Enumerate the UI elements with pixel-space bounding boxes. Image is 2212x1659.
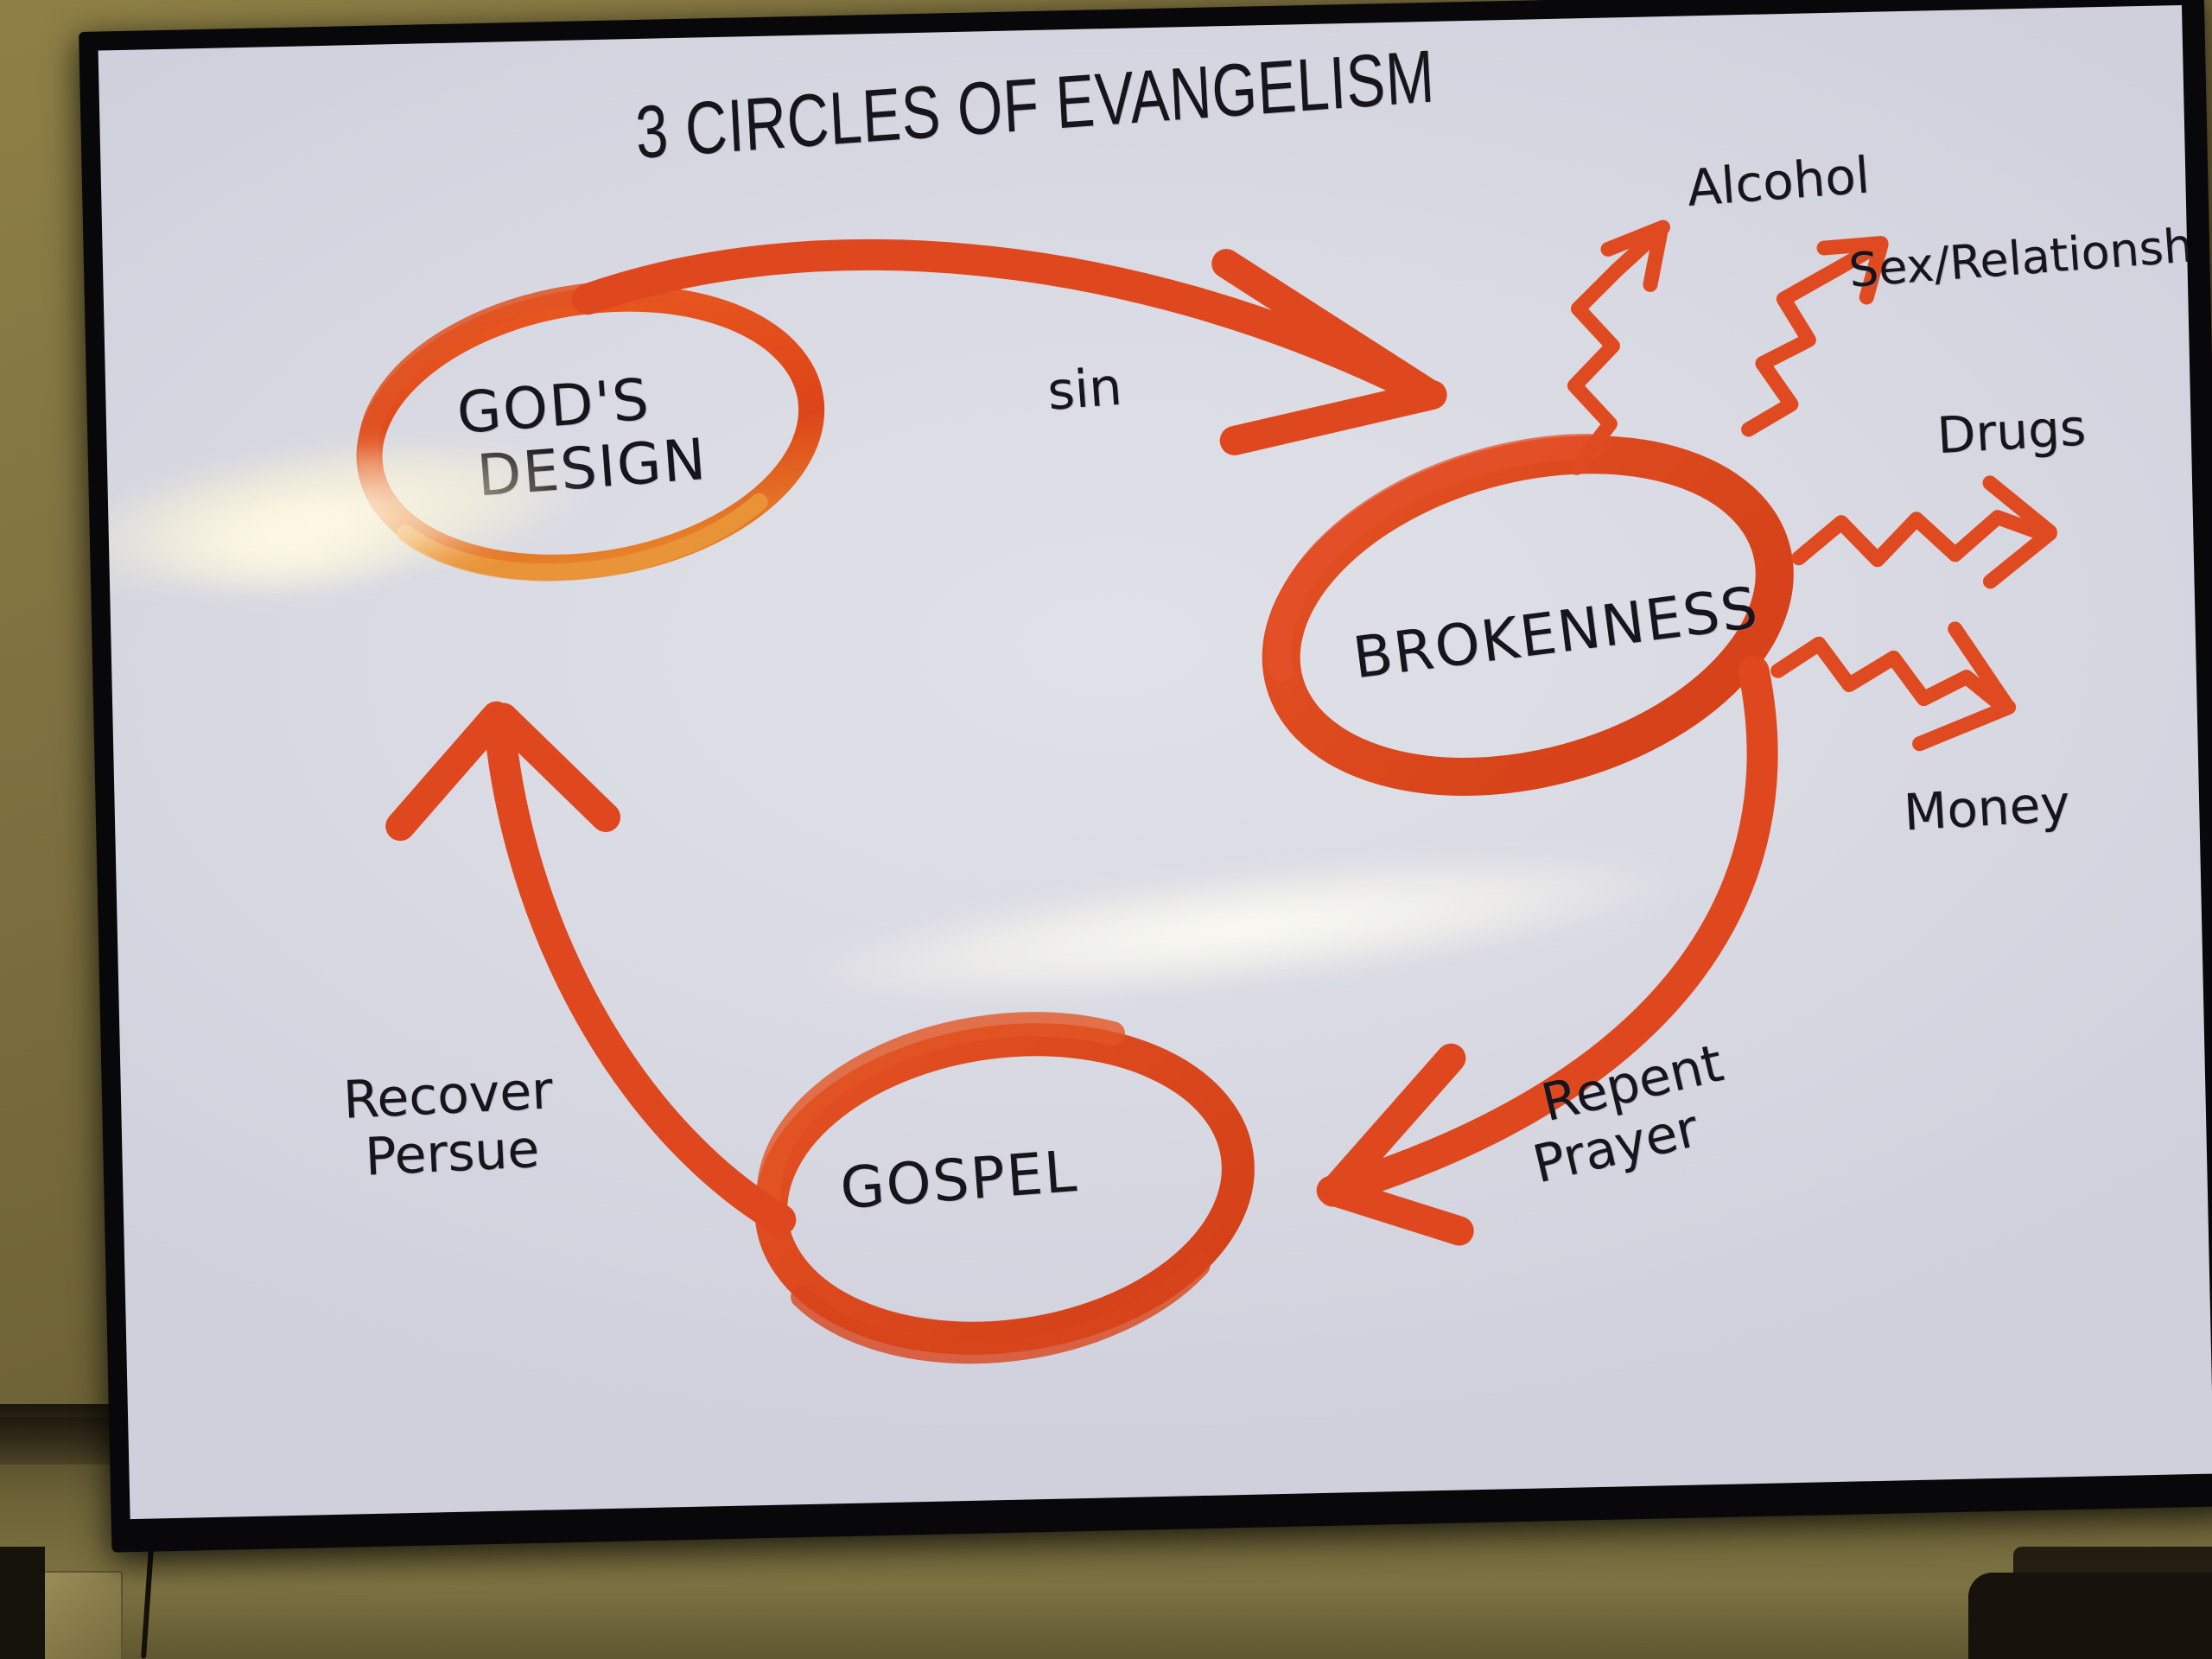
circle-label-gods-design: GOD'S DESIGN — [454, 364, 709, 509]
branch-label-drugs: Drugs — [1935, 398, 2088, 466]
flow-label-recover-persue: Recover Persue — [342, 1062, 557, 1188]
alcohol-zigzag-arrow — [1571, 227, 1668, 467]
diagram-ink-layer — [99, 5, 2212, 1519]
sin-arrow — [587, 242, 1433, 454]
projector-screen-display: 3 CIRCLES OF EVANGELISM GOD'S DESIGN BRO… — [79, 0, 2212, 1553]
display-screen: 3 CIRCLES OF EVANGELISM GOD'S DESIGN BRO… — [99, 5, 2212, 1519]
slide-canvas: 3 CIRCLES OF EVANGELISM GOD'S DESIGN BRO… — [99, 5, 2212, 1519]
recover-line-2: Persue — [364, 1120, 557, 1187]
money-zigzag-arrow — [1777, 628, 2010, 747]
furniture-bottom-right — [1968, 1573, 2212, 1659]
left-dark-object — [0, 1547, 45, 1659]
flow-label-sin: sin — [1046, 357, 1124, 423]
branch-label-money: Money — [1902, 774, 2071, 842]
light-switch-plate[interactable] — [36, 1571, 123, 1659]
room-photo: 3 CIRCLES OF EVANGELISM GOD'S DESIGN BRO… — [0, 0, 2212, 1659]
drugs-zigzag-arrow — [1797, 481, 2050, 585]
